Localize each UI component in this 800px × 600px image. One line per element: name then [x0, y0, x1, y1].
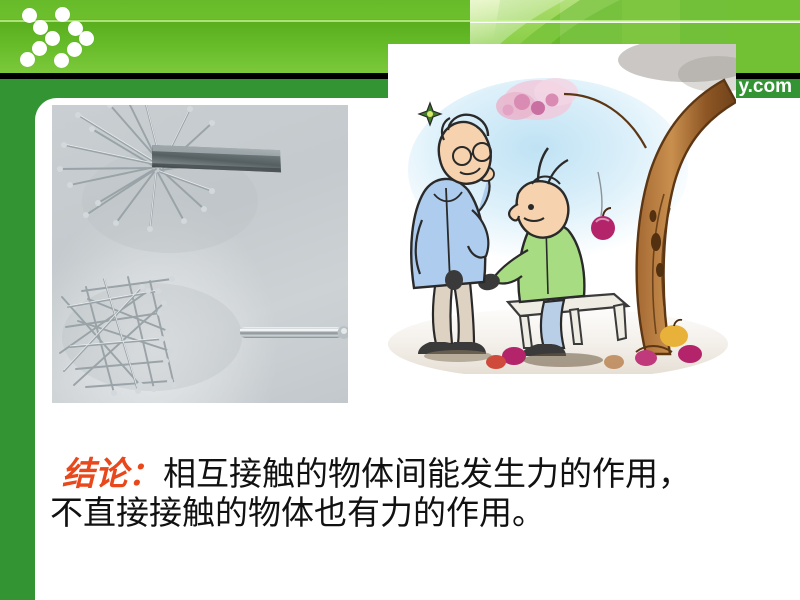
- newton-apple-cartoon: [388, 44, 736, 374]
- conclusion-line-2: 不直接接触的物体也有力的作用。: [50, 494, 782, 533]
- header-dot: [45, 31, 60, 46]
- header-hairline-right: [470, 22, 800, 23]
- slide-canvas: y.com: [0, 0, 800, 600]
- cartoon-svg: [388, 44, 736, 374]
- dot-cluster-icon: [0, 0, 200, 73]
- conclusion-lead-label: 结论：: [62, 454, 163, 493]
- conclusion-line-1: 相互接触的物体间能发生力的作用，: [163, 454, 691, 493]
- header-dot: [67, 42, 82, 57]
- left-green-sidebar: [0, 98, 35, 600]
- header-dot: [32, 41, 47, 56]
- steel-rod: [240, 326, 348, 339]
- header-dot: [79, 31, 94, 46]
- header-dot: [54, 53, 69, 68]
- pins-photo-svg: [52, 105, 348, 403]
- header-dot: [55, 7, 70, 22]
- conclusion-text: 结论：相互接触的物体间能发生力的作用， 不直接接触的物体也有力的作用。: [62, 455, 782, 533]
- header-dot: [20, 52, 35, 67]
- pins-and-magnet-photo: [52, 105, 348, 403]
- watermark-text: y.com: [738, 76, 792, 98]
